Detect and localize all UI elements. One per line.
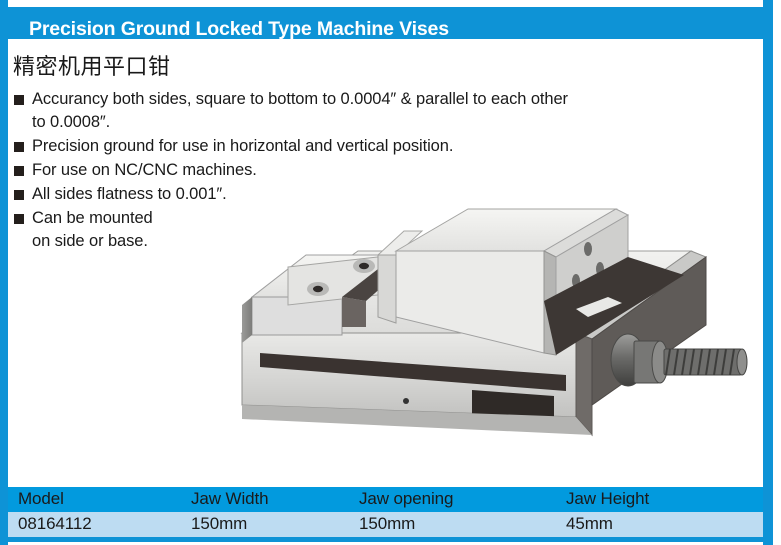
spec-table: Model Jaw Width Jaw opening Jaw Height 0… [8, 487, 763, 539]
square-bullet-icon [14, 166, 24, 176]
page-title: Precision Ground Locked Type Machine Vis… [29, 18, 449, 41]
fixed-jaw-bolt-hole-1-inner [313, 286, 323, 292]
movable-jaw-bolt-hole-1 [584, 242, 592, 256]
screw-rod-end [737, 349, 747, 375]
column-header-jaw-height: Jaw Height [566, 489, 649, 509]
feature-text: For use on NC/CNC machines. [32, 159, 654, 182]
feature-line-1: Accurancy both sides, square to bottom t… [32, 90, 568, 108]
cell-jaw-width: 150mm [191, 514, 247, 534]
cell-model: 08164112 [18, 514, 92, 534]
page-border-left [0, 0, 8, 545]
feature-line-2: to 0.0008″. [32, 111, 654, 134]
list-item: For use on NC/CNC machines. [14, 159, 654, 182]
feature-text: All sides flatness to 0.001″. [32, 183, 654, 206]
fixed-jaw-bolt-hole-2-inner [359, 263, 369, 269]
list-item: Precision ground for use in horizontal a… [14, 135, 654, 158]
feature-text: Precision ground for use in horizontal a… [32, 135, 654, 158]
square-bullet-icon [14, 214, 24, 224]
subtitle-chinese: 精密机用平口钳 [13, 49, 171, 81]
column-header-model: Model [18, 489, 64, 509]
page-border-top-gap [8, 0, 763, 4]
product-image [236, 205, 766, 470]
square-bullet-icon [14, 142, 24, 152]
vise-body-stud [403, 398, 409, 404]
cell-jaw-opening: 150mm [359, 514, 415, 534]
jaw-gap-shadow-2 [342, 297, 366, 327]
feature-line-1: For use on NC/CNC machines. [32, 161, 257, 179]
square-bullet-icon [14, 190, 24, 200]
guide-rib-face [378, 255, 396, 323]
spec-table-header-row: Model Jaw Width Jaw opening Jaw Height [8, 487, 763, 512]
title-bar: Precision Ground Locked Type Machine Vis… [8, 7, 763, 39]
cell-jaw-height: 45mm [566, 514, 613, 534]
list-item: Accurancy both sides, square to bottom t… [14, 88, 654, 134]
column-header-jaw-width: Jaw Width [191, 489, 269, 509]
column-header-jaw-opening: Jaw opening [359, 489, 453, 509]
feature-text: Accurancy both sides, square to bottom t… [32, 88, 654, 134]
fixed-jaw-left-side [242, 297, 252, 343]
feature-line-1: Can be mounted [32, 209, 153, 227]
catalog-page: Precision Ground Locked Type Machine Vis… [0, 0, 781, 545]
table-bottom-rule [8, 537, 763, 542]
list-item: All sides flatness to 0.001″. [14, 183, 654, 206]
feature-line-1: Precision ground for use in horizontal a… [32, 137, 453, 155]
feature-line-1: All sides flatness to 0.001″. [32, 185, 227, 203]
square-bullet-icon [14, 95, 24, 105]
right-end-block-face [576, 333, 592, 435]
table-row: 08164112 150mm 150mm 45mm [8, 512, 763, 537]
